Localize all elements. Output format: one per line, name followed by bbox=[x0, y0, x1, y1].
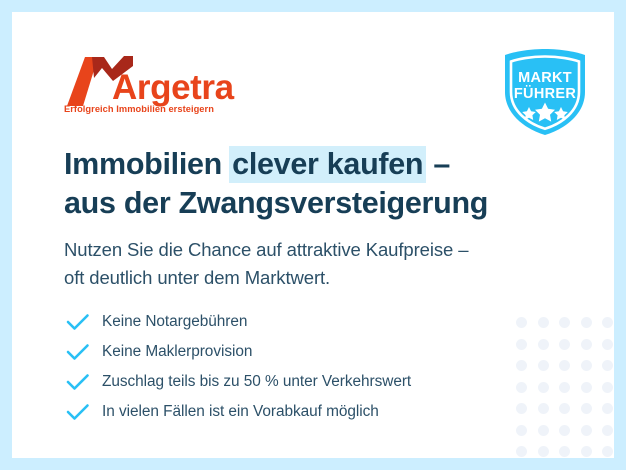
headline-line1-prefix: Immobilien bbox=[64, 147, 230, 181]
decorative-dot bbox=[581, 425, 592, 436]
list-item: Zuschlag teils bis zu 50 % unter Verkehr… bbox=[66, 367, 536, 397]
decorative-dot bbox=[538, 446, 549, 457]
subheading-line1: Nutzen Sie die Chance auf attraktive Kau… bbox=[64, 239, 468, 260]
list-item: In vielen Fällen ist ein Vorabkauf mögli… bbox=[66, 397, 536, 427]
decorative-dot bbox=[559, 425, 570, 436]
decorative-dot bbox=[602, 446, 613, 457]
headline-line1-suffix: – bbox=[425, 147, 450, 181]
decorative-dot bbox=[538, 339, 549, 350]
decorative-dot bbox=[581, 446, 592, 457]
decorative-dot bbox=[559, 382, 570, 393]
list-item-label: Zuschlag teils bis zu 50 % unter Verkehr… bbox=[102, 373, 411, 391]
logo-tagline: Erfolgreich Immobilien ersteigern bbox=[64, 104, 214, 114]
decorative-dot bbox=[581, 403, 592, 414]
decorative-dot bbox=[602, 382, 613, 393]
headline-line2: aus der Zwangsversteigerung bbox=[64, 186, 488, 220]
decorative-dot bbox=[602, 425, 613, 436]
decorative-dot bbox=[602, 403, 613, 414]
decorative-dot bbox=[559, 360, 570, 371]
market-leader-badge: MARKT FÜHRER bbox=[499, 46, 591, 138]
headline-highlight: clever kaufen bbox=[229, 146, 426, 183]
logo-wordmark: Argetra bbox=[112, 70, 234, 105]
check-icon bbox=[66, 313, 90, 331]
check-icon bbox=[66, 373, 90, 391]
decorative-dot bbox=[538, 317, 549, 328]
page-title: Immobilien clever kaufen – aus der Zwang… bbox=[64, 145, 564, 222]
decorative-dot bbox=[538, 403, 549, 414]
list-item-label: In vielen Fällen ist ein Vorabkauf mögli… bbox=[102, 403, 379, 421]
subheading-line2: oft deutlich unter dem Marktwert. bbox=[64, 267, 330, 288]
decorative-dot bbox=[559, 317, 570, 328]
decorative-dot bbox=[581, 382, 592, 393]
decorative-dot bbox=[559, 403, 570, 414]
argetra-logo[interactable]: Argetra Erfolgreich Immobilien ersteiger… bbox=[64, 54, 254, 118]
decorative-dot bbox=[538, 360, 549, 371]
decorative-dot bbox=[602, 317, 613, 328]
check-icon bbox=[66, 403, 90, 421]
badge-line-2: FÜHRER bbox=[499, 86, 591, 102]
list-item: Keine Notargebühren bbox=[66, 307, 536, 337]
decorative-dot bbox=[581, 360, 592, 371]
list-item: Keine Maklerprovision bbox=[66, 337, 536, 367]
decorative-dot bbox=[538, 382, 549, 393]
decorative-dot bbox=[538, 425, 549, 436]
decorative-dot bbox=[602, 360, 613, 371]
badge-line-1: MARKT bbox=[499, 70, 591, 86]
decorative-dot bbox=[581, 317, 592, 328]
benefits-list: Keine NotargebührenKeine Maklerprovision… bbox=[66, 307, 536, 427]
list-item-label: Keine Maklerprovision bbox=[102, 343, 252, 361]
list-item-label: Keine Notargebühren bbox=[102, 313, 247, 331]
decorative-dot bbox=[559, 339, 570, 350]
decorative-dot bbox=[516, 446, 527, 457]
check-icon bbox=[66, 343, 90, 361]
decorative-dot bbox=[559, 446, 570, 457]
page-subtitle: Nutzen Sie die Chance auf attraktive Kau… bbox=[64, 236, 564, 292]
promo-card: Argetra Erfolgreich Immobilien ersteiger… bbox=[12, 12, 614, 458]
decorative-dot bbox=[581, 339, 592, 350]
decorative-dot bbox=[602, 339, 613, 350]
